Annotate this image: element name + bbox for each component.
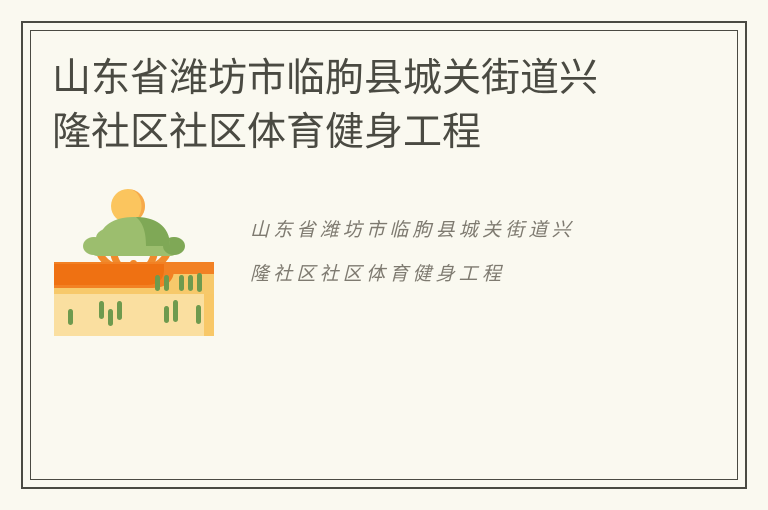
ground-layers (54, 262, 214, 336)
poster-canvas: 山东省潍坊市临朐县城关街道兴 隆社区社区体育健身工程 (0, 0, 768, 510)
poster-content: 山东省潍坊市临朐县城关街道兴 隆社区社区体育健身工程 (30, 30, 738, 480)
page-title: 山东省潍坊市临朐县城关街道兴 隆社区社区体育健身工程 (52, 52, 652, 160)
calligraphy-caption: 山东省潍坊市临朐县城关街道兴 隆社区社区体育健身工程 (250, 184, 575, 296)
poster-body: 山东省潍坊市临朐县城关街道兴 隆社区社区体育健身工程 (52, 184, 738, 356)
savanna-landscape-illustration (54, 184, 236, 356)
